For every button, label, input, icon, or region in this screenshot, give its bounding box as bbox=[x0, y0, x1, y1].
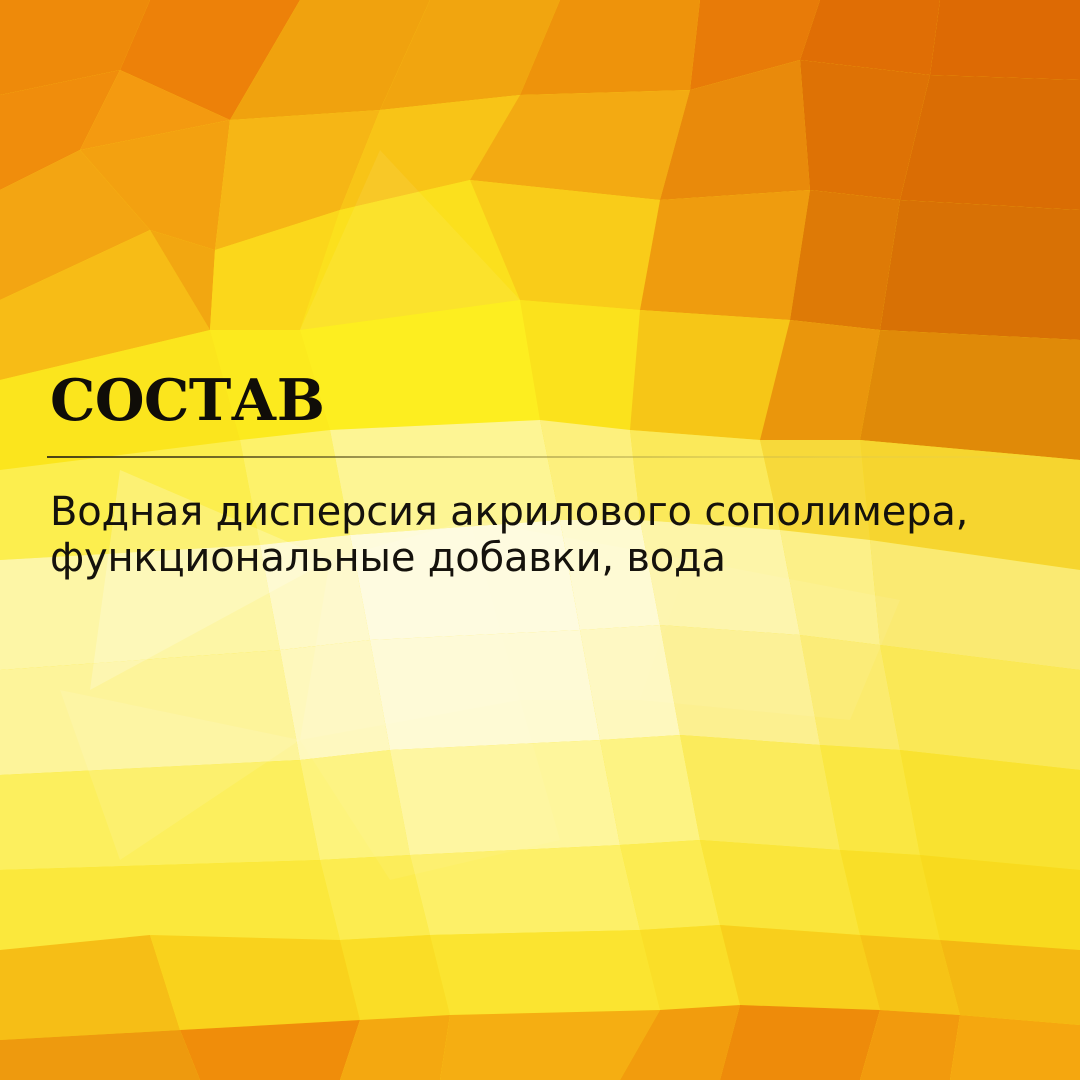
description-line-2: функциональные добавки, вода bbox=[50, 535, 1050, 581]
page-title: СОСТАВ bbox=[50, 372, 324, 430]
title-divider bbox=[47, 456, 1040, 458]
composition-card: СОСТАВ Водная дисперсия акрилового сопол… bbox=[0, 0, 1080, 1080]
composition-description: Водная дисперсия акрилового сополимера, … bbox=[50, 489, 1050, 581]
text-content-block: СОСТАВ Водная дисперсия акрилового сопол… bbox=[0, 0, 1080, 1080]
description-line-1: Водная дисперсия акрилового сополимера, bbox=[50, 489, 1050, 535]
